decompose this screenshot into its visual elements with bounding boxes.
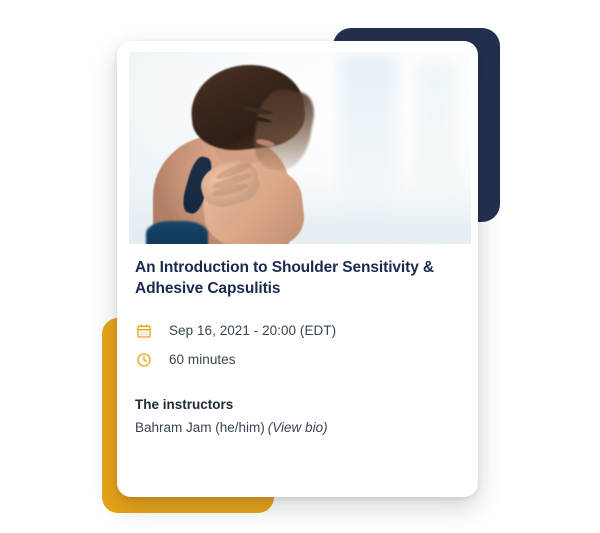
- clock-icon: [135, 351, 153, 369]
- instructor-name: Bahram Jam (he/him): [135, 420, 265, 435]
- instructors-heading: The instructors: [135, 397, 460, 412]
- instructors-section: The instructors Bahram Jam (he/him)(View…: [135, 397, 460, 435]
- course-card-scene: An Introduction to Shoulder Sensitivity …: [0, 0, 600, 533]
- course-card-body: An Introduction to Shoulder Sensitivity …: [117, 244, 478, 435]
- figure-garment: [146, 221, 208, 244]
- instructor-row: Bahram Jam (he/him)(View bio): [135, 420, 460, 435]
- course-title: An Introduction to Shoulder Sensitivity …: [135, 258, 455, 300]
- photo-background: [129, 52, 471, 244]
- view-bio-link[interactable]: (View bio): [268, 420, 328, 435]
- course-meta-list: Sep 16, 2021 - 20:00 (EDT) 60 minutes: [135, 322, 460, 369]
- course-date-text: Sep 16, 2021 - 20:00 (EDT): [169, 323, 336, 338]
- course-card[interactable]: An Introduction to Shoulder Sensitivity …: [117, 41, 478, 497]
- course-duration-row: 60 minutes: [135, 351, 460, 369]
- course-date-row: Sep 16, 2021 - 20:00 (EDT): [135, 322, 460, 340]
- course-duration-text: 60 minutes: [169, 352, 236, 367]
- calendar-icon: [135, 322, 153, 340]
- course-image: [129, 52, 471, 244]
